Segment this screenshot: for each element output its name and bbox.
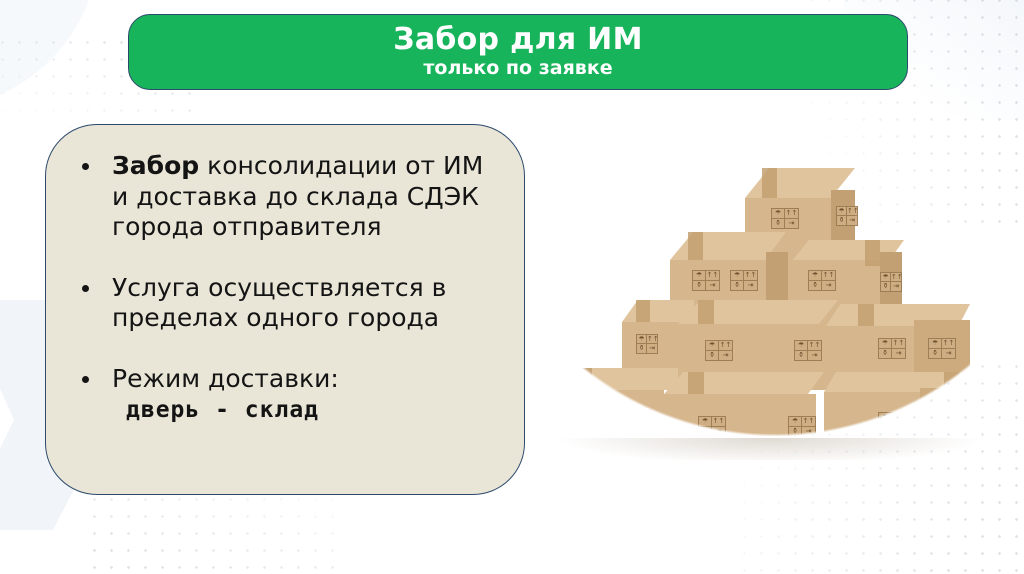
shipping-label-icon: ☂↑↑⚱⇥ bbox=[878, 412, 906, 433]
bullet-text: Режим доставки: bbox=[112, 364, 339, 393]
bullet-lead-text: Забор bbox=[112, 151, 199, 180]
slide-title: Забор для ИМ bbox=[393, 24, 643, 56]
list-item: Забор консолидации от ИМ и доставка до с… bbox=[68, 151, 502, 243]
shipping-label-icon: ☂↑↑⚱⇥ bbox=[588, 412, 616, 433]
content-panel: Забор консолидации от ИМ и доставка до с… bbox=[45, 124, 525, 495]
shipping-label-icon: ☂↑↑⚱⇥ bbox=[705, 340, 733, 361]
shipping-label-icon: ☂↑↑⚱⇥ bbox=[636, 334, 658, 354]
shipping-label-icon: ☂↑↑⚱⇥ bbox=[794, 340, 822, 361]
shipping-label-icon: ☂↑↑⚱⇥ bbox=[698, 416, 726, 437]
shipping-label-icon: ☂↑↑⚱⇥ bbox=[771, 208, 799, 229]
list-item: Услуга осуществляется в пределах одного … bbox=[68, 273, 502, 334]
shipping-label-icon: ☂↑↑⚱⇥ bbox=[808, 270, 836, 291]
boxes-shadow bbox=[560, 438, 980, 460]
shipping-label-icon: ☂↑↑⚱⇥ bbox=[932, 408, 954, 428]
shipping-label-icon: ☂↑↑⚱⇥ bbox=[880, 272, 902, 292]
shipping-label-icon: ☂↑↑⚱⇥ bbox=[730, 270, 758, 291]
delivery-mode-value: дверь - склад bbox=[112, 396, 502, 424]
shipping-label-icon: ☂↑↑⚱⇥ bbox=[836, 206, 858, 226]
bullet-text: Услуга осуществляется в пределах одного … bbox=[112, 273, 446, 333]
list-item: Режим доставки: дверь - склад bbox=[68, 364, 502, 425]
slide-subtitle: только по заявке bbox=[423, 58, 612, 80]
slide-header-banner: Забор для ИМ только по заявке bbox=[128, 14, 908, 90]
shipping-label-icon: ☂↑↑⚱⇥ bbox=[788, 416, 816, 437]
boxes-image: ☂↑↑⚱⇥ ☂↑↑⚱⇥ ☂↑↑⚱⇥ ☂↑↑⚱⇥ bbox=[540, 140, 1010, 460]
shipping-label-icon: ☂↑↑⚱⇥ bbox=[692, 270, 720, 291]
shipping-label-icon: ☂↑↑⚱⇥ bbox=[928, 338, 956, 359]
shipping-label-icon: ☂↑↑⚱⇥ bbox=[878, 338, 906, 359]
boxes-image-mask: ☂↑↑⚱⇥ ☂↑↑⚱⇥ ☂↑↑⚱⇥ ☂↑↑⚱⇥ bbox=[540, 140, 1010, 460]
bullet-list: Забор консолидации от ИМ и доставка до с… bbox=[68, 151, 502, 424]
